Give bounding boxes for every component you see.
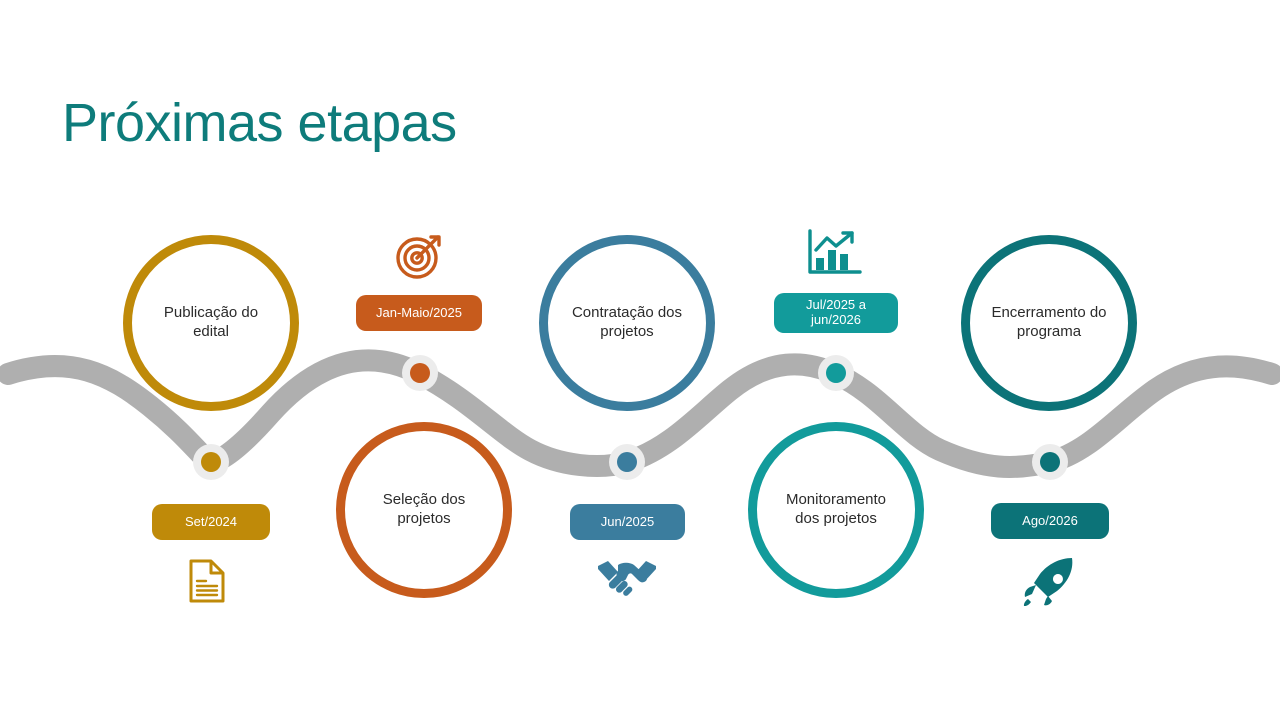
marker-dot <box>201 452 221 472</box>
date-badge-jan-maio-2025[interactable]: Jan-Maio/2025 <box>356 295 482 331</box>
marker-ago-2026[interactable] <box>1032 444 1068 480</box>
marker-jul-2025-jun-2026[interactable] <box>818 355 854 391</box>
rocket-icon <box>1022 556 1078 606</box>
marker-jan-maio-2025[interactable] <box>402 355 438 391</box>
date-badge-set-2024[interactable]: Set/2024 <box>152 504 270 540</box>
stage-circle-monitoramento-dos-projetos[interactable]: Monitoramento dos projetos <box>748 422 924 598</box>
stage-label: Monitoramento dos projetos <box>770 491 902 529</box>
page-title: Próximas etapas <box>62 94 457 153</box>
date-badge-ago-2026[interactable]: Ago/2026 <box>991 503 1109 539</box>
slide-canvas: Próximas etapas Publicação do edital Set… <box>0 0 1280 720</box>
stage-circle-publicacao-do-edital[interactable]: Publicação do edital <box>123 235 299 411</box>
marker-set-2024[interactable] <box>193 444 229 480</box>
marker-dot <box>826 363 846 383</box>
date-badge-jun-2025[interactable]: Jun/2025 <box>570 504 685 540</box>
stage-circle-selecao-dos-projetos[interactable]: Seleção dos projetos <box>336 422 512 598</box>
marker-jun-2025[interactable] <box>609 444 645 480</box>
stage-circle-contratacao-dos-projetos[interactable]: Contratação dos projetos <box>539 235 715 411</box>
date-badge-jul-2025-jun-2026[interactable]: Jul/2025 a jun/2026 <box>774 293 898 333</box>
stage-label: Contratação dos projetos <box>556 304 698 342</box>
document-icon <box>186 558 228 604</box>
marker-dot <box>617 452 637 472</box>
stage-label: Encerramento do programa <box>975 304 1122 342</box>
handshake-icon <box>596 556 658 596</box>
marker-dot <box>410 363 430 383</box>
stage-label: Publicação do edital <box>148 304 274 342</box>
bar-chart-growth-icon <box>806 228 864 276</box>
target-icon <box>392 228 448 282</box>
stage-circle-encerramento-do-programa[interactable]: Encerramento do programa <box>961 235 1137 411</box>
marker-dot <box>1040 452 1060 472</box>
stage-label: Seleção dos projetos <box>367 491 482 529</box>
